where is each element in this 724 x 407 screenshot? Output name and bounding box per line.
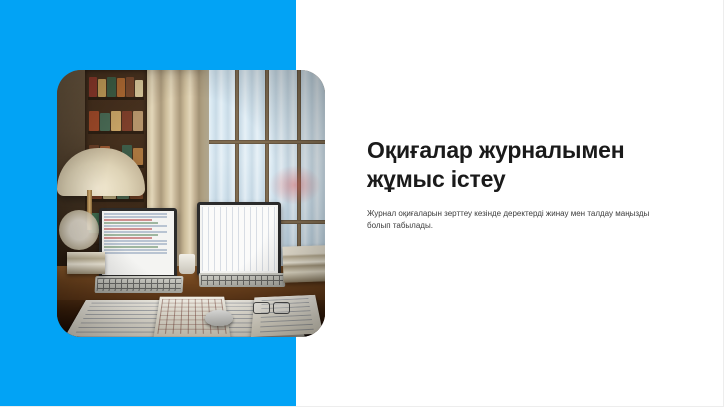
laptop-right-screen [200, 205, 278, 273]
eyeglasses-lens [273, 302, 290, 314]
book-stack-right [282, 245, 325, 283]
eyeglasses-lens [253, 302, 270, 314]
book-spine [133, 111, 143, 131]
photo-card [57, 70, 325, 337]
keyboard-keys [97, 278, 182, 291]
book-stack-left [67, 252, 105, 274]
decorative-plate [59, 210, 99, 250]
window-glow [269, 165, 321, 205]
eyeglasses [253, 302, 293, 314]
slide-subtitle: Журнал оқиғаларын зерттеу кезінде дерект… [367, 208, 655, 232]
shelf-row [88, 108, 144, 134]
photo-scene [57, 70, 325, 337]
book-spine [111, 111, 121, 131]
book-spine [98, 79, 106, 97]
window-mullion [209, 140, 325, 144]
keyboard-keys [201, 275, 283, 285]
book-spine [89, 111, 99, 131]
slide-title: Оқиғалар журналымен жұмыс істеу [367, 136, 655, 194]
keyboard-left [95, 276, 184, 293]
book-spine [107, 77, 115, 97]
book-spine [126, 77, 134, 97]
mug [179, 254, 195, 274]
book-spine [135, 80, 143, 97]
book-spine [117, 78, 125, 97]
laptop-left-screen [102, 211, 174, 275]
spreadsheet-rows [104, 213, 172, 273]
book-spine [89, 77, 97, 97]
shelf-row [88, 74, 144, 100]
book-spine [100, 113, 110, 131]
laptop-left [99, 208, 177, 278]
computer-mouse [205, 310, 233, 326]
text-column: Оқиғалар журналымен жұмыс істеу Журнал о… [367, 136, 655, 232]
book-spine [122, 111, 132, 131]
slide-canvas: Оқиғалар журналымен жұмыс істеу Журнал о… [0, 0, 724, 407]
keyboard-right [199, 273, 285, 287]
laptop-right [197, 202, 281, 276]
spreadsheet-grid [202, 207, 276, 271]
